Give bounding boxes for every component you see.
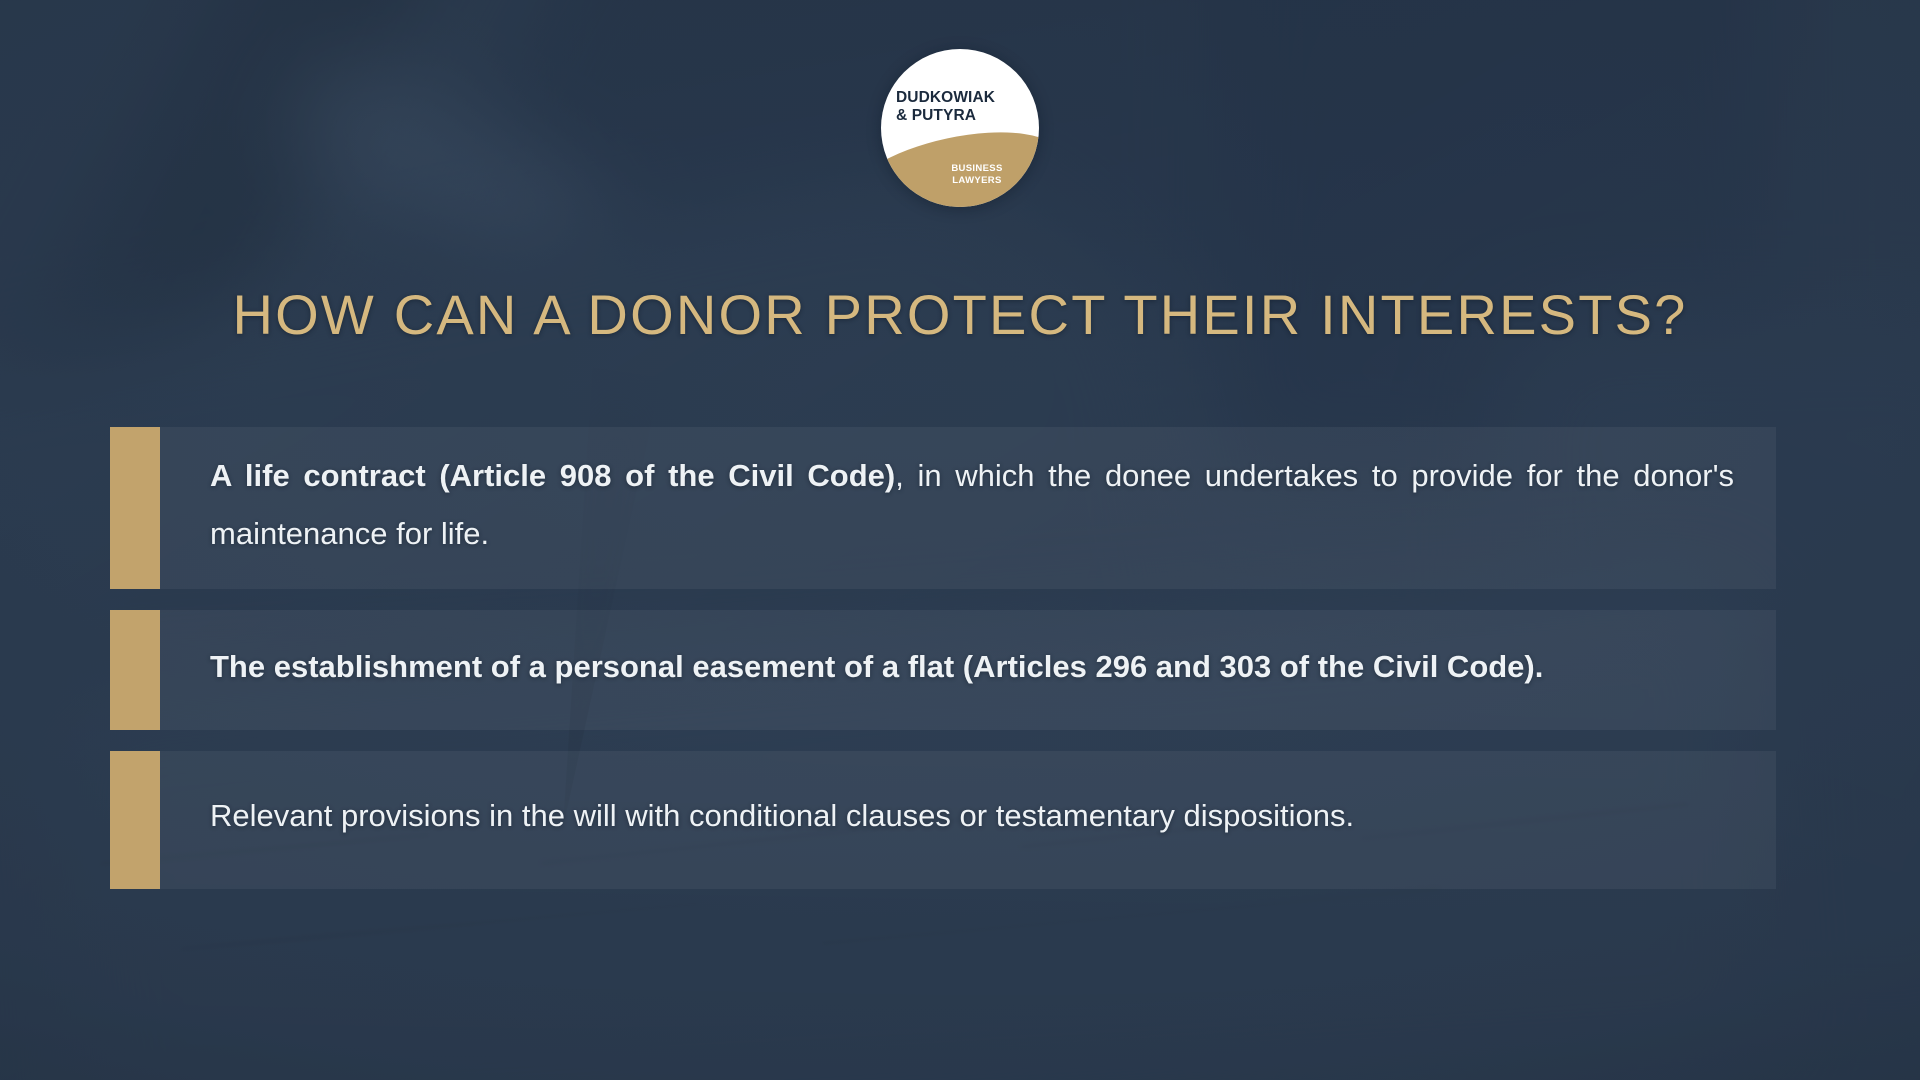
slide-root: DUDKOWIAK & PUTYRA BUSINESS LAWYERS HOW … — [0, 0, 1920, 1080]
logo-name-line-2: & PUTYRA — [896, 107, 976, 124]
logo-name-line-1: DUDKOWIAK — [896, 89, 995, 106]
block-text-bold-lead: The establishment of a personal easement… — [210, 649, 1543, 684]
block-text: The establishment of a personal easement… — [160, 610, 1776, 730]
block-text: Relevant provisions in the will with con… — [160, 751, 1776, 889]
logo-tagline: BUSINESS LAWYERS — [931, 163, 1023, 187]
content-block-list: A life contract (Article 908 of the Civi… — [110, 427, 1776, 889]
block-text: A life contract (Article 908 of the Civi… — [160, 427, 1776, 589]
content-block: The establishment of a personal easement… — [110, 610, 1776, 730]
block-accent-bar — [110, 427, 160, 589]
company-logo: DUDKOWIAK & PUTYRA BUSINESS LAWYERS — [881, 49, 1039, 207]
content-block: Relevant provisions in the will with con… — [110, 751, 1776, 889]
slide-headline: HOW CAN A DONOR PROTECT THEIR INTERESTS? — [0, 283, 1920, 347]
block-text-rest: Relevant provisions in the will with con… — [210, 798, 1354, 833]
logo-tagline-line-1: BUSINESS — [951, 163, 1002, 174]
block-text-bold-lead: A life contract (Article 908 of the Civi… — [210, 458, 895, 493]
logo-company-name: DUDKOWIAK & PUTYRA — [896, 89, 1022, 124]
logo-tagline-line-2: LAWYERS — [952, 175, 1001, 186]
logo-gold-swoosh — [881, 117, 1039, 207]
block-accent-bar — [110, 751, 160, 889]
block-accent-bar — [110, 610, 160, 730]
content-block: A life contract (Article 908 of the Civi… — [110, 427, 1776, 589]
